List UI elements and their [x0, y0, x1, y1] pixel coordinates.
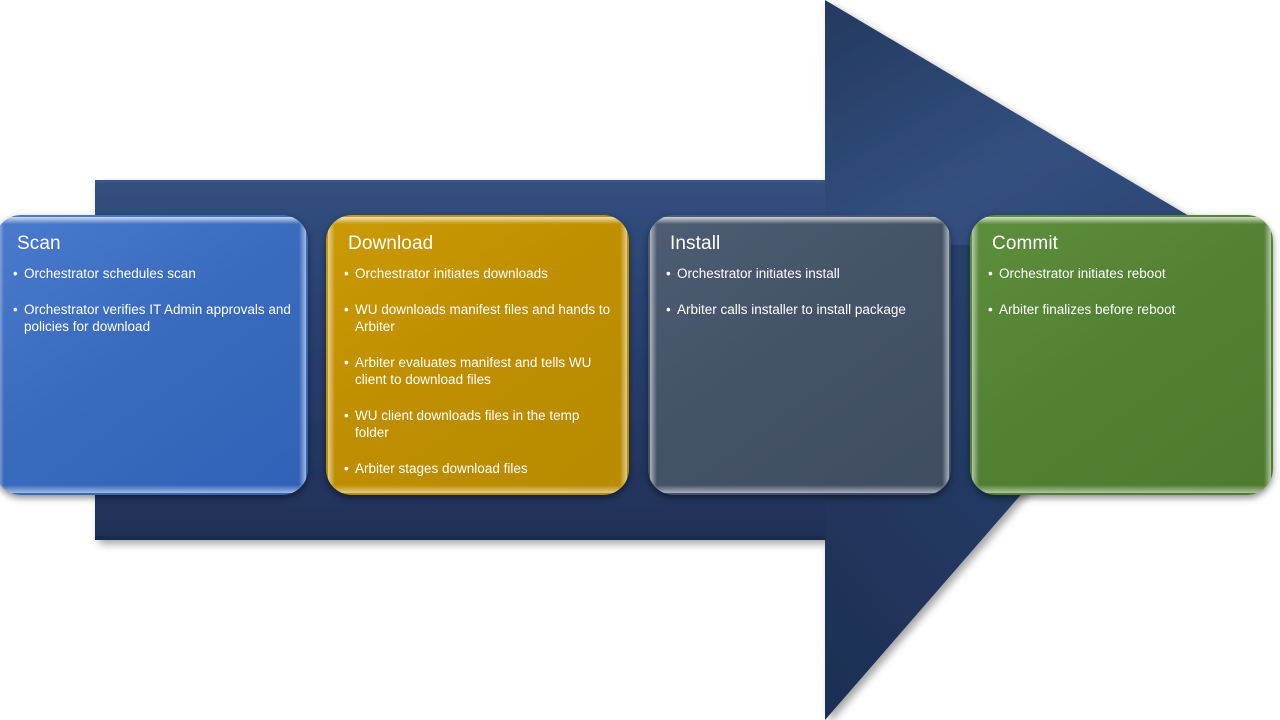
- arrow-shaft-bottom-shadow: [95, 536, 825, 540]
- bullet-item: • Orchestrator initiates downloads: [344, 265, 615, 282]
- bullet-text: Arbiter calls installer to install packa…: [677, 302, 906, 317]
- arrow-shaft-top-highlight: [95, 180, 825, 183]
- bullet-dot-icon: •: [344, 354, 349, 371]
- bullet-item: • Arbiter finalizes before reboot: [988, 301, 1259, 318]
- bevel-highlight-right: [299, 218, 306, 492]
- bevel-highlight-right: [1264, 218, 1271, 492]
- bevel-highlight-left: [0, 218, 4, 492]
- bullet-item: • WU downloads manifest files and hands …: [344, 301, 615, 335]
- bullet-text: Orchestrator initiates install: [677, 266, 840, 281]
- bullet-text: WU downloads manifest files and hands to…: [355, 302, 610, 334]
- bevel-highlight-left: [972, 218, 979, 492]
- bullet-item: • Orchestrator initiates install: [666, 265, 937, 282]
- bevel-highlight-right: [620, 218, 627, 492]
- bullet-dot-icon: •: [988, 301, 993, 318]
- phase-title-scan: Scan: [17, 233, 294, 255]
- bullet-item: • WU client downloads files in the temp …: [344, 407, 615, 441]
- phase-bullets-scan: • Orchestrator schedules scan • Orchestr…: [13, 265, 294, 335]
- phase-title-download: Download: [348, 233, 615, 255]
- bevel-highlight-right: [942, 218, 949, 492]
- bullet-text: Orchestrator schedules scan: [24, 266, 196, 281]
- bullet-item: • Arbiter evaluates manifest and tells W…: [344, 354, 615, 388]
- arrow-head-upper: [825, 0, 1238, 245]
- bevel-highlight-left: [328, 218, 335, 492]
- phase-card-scan[interactable]: Scan • Orchestrator schedules scan • Orc…: [0, 215, 308, 495]
- bullet-item: • Arbiter calls installer to install pac…: [666, 301, 937, 318]
- phase-title-commit: Commit: [992, 233, 1259, 255]
- phase-title-install: Install: [670, 233, 937, 255]
- phase-bullets-install: • Orchestrator initiates install • Arbit…: [666, 265, 937, 318]
- bullet-item: • Orchestrator schedules scan: [13, 265, 294, 282]
- bullet-text: Orchestrator initiates reboot: [999, 266, 1166, 281]
- phase-bullets-download: • Orchestrator initiates downloads • WU …: [344, 265, 615, 477]
- bullet-dot-icon: •: [988, 265, 993, 282]
- bullet-dot-icon: •: [344, 407, 349, 424]
- bullet-item: • Orchestrator verifies IT Admin approva…: [13, 301, 294, 335]
- bullet-dot-icon: •: [666, 301, 671, 318]
- bullet-dot-icon: •: [344, 460, 349, 477]
- phase-card-install[interactable]: Install • Orchestrator initiates install…: [648, 215, 951, 495]
- bullet-dot-icon: •: [344, 301, 349, 318]
- bullet-text: Arbiter finalizes before reboot: [999, 302, 1175, 317]
- bullet-text: Arbiter stages download files: [355, 461, 528, 476]
- phase-card-commit[interactable]: Commit • Orchestrator initiates reboot •…: [970, 215, 1273, 495]
- bullet-text: Orchestrator verifies IT Admin approvals…: [24, 302, 291, 334]
- bullet-text: WU client downloads files in the temp fo…: [355, 408, 579, 440]
- diagram-canvas: Scan • Orchestrator schedules scan • Orc…: [0, 0, 1280, 720]
- bullet-dot-icon: •: [344, 265, 349, 282]
- bullet-item: • Orchestrator initiates reboot: [988, 265, 1259, 282]
- bullet-dot-icon: •: [666, 265, 671, 282]
- bullet-text: Arbiter evaluates manifest and tells WU …: [355, 355, 591, 387]
- bullet-text: Orchestrator initiates downloads: [355, 266, 548, 281]
- bullet-item: • Arbiter stages download files: [344, 460, 615, 477]
- bullet-dot-icon: •: [13, 265, 18, 282]
- phase-card-download[interactable]: Download • Orchestrator initiates downlo…: [326, 215, 629, 495]
- bevel-highlight-left: [650, 218, 657, 492]
- bullet-dot-icon: •: [13, 301, 18, 318]
- phase-bullets-commit: • Orchestrator initiates reboot • Arbite…: [988, 265, 1259, 318]
